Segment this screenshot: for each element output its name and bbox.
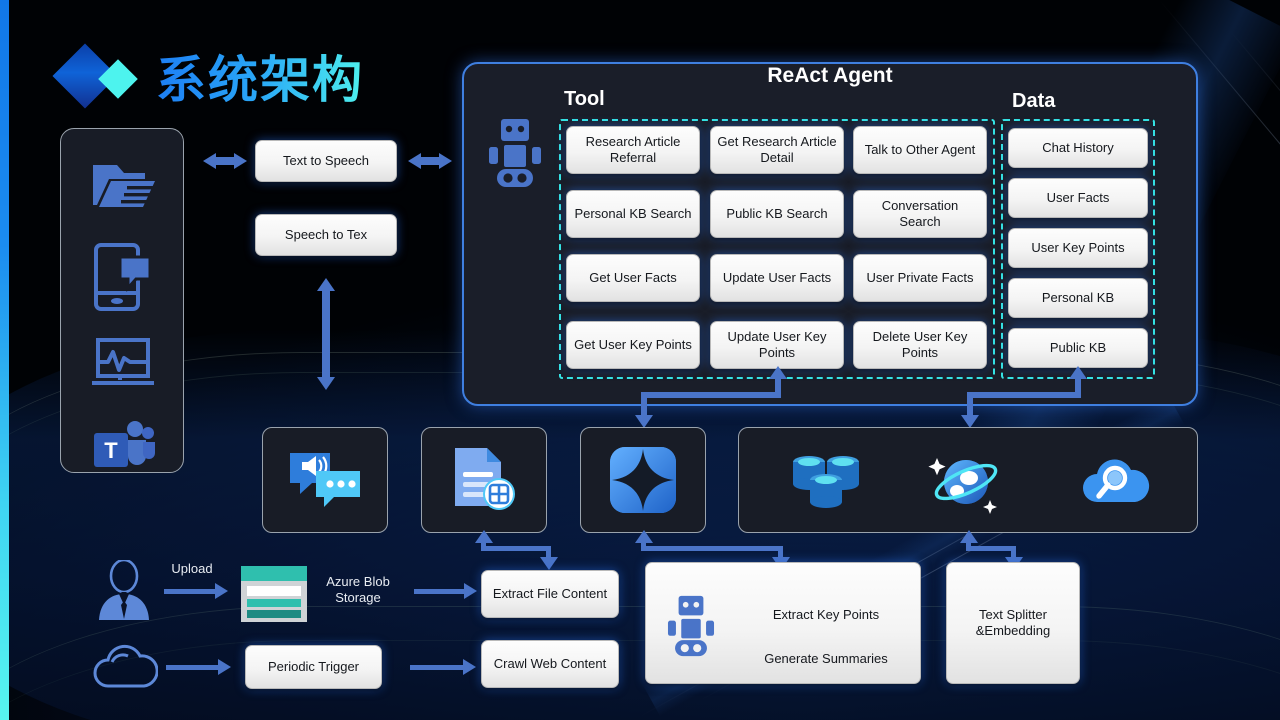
tool-button[interactable]: Public KB Search (710, 190, 844, 238)
azure-blob-storage-icon (241, 566, 307, 627)
speech-service-icon (288, 449, 362, 511)
database-stack-icon (787, 452, 863, 517)
extract-file-content-button[interactable]: Extract File Content (481, 570, 619, 618)
laptop-monitor-icon (90, 336, 156, 392)
data-button[interactable]: Public KB (1008, 328, 1148, 368)
user-person-icon (95, 560, 153, 627)
robot-icon (664, 595, 718, 661)
periodic-trigger-button[interactable]: Periodic Trigger (245, 645, 382, 689)
data-button[interactable]: User Key Points (1008, 228, 1148, 268)
tool-button[interactable]: Conversation Search (853, 190, 987, 238)
teams-icon: T (90, 419, 156, 477)
sidebar-item-folder[interactable] (61, 151, 185, 223)
sidebar-item-mobile-chat[interactable] (61, 237, 185, 317)
data-button[interactable]: Personal KB (1008, 278, 1148, 318)
cloud-icon (90, 640, 158, 697)
sidebar-item-monitoring[interactable] (61, 329, 185, 399)
data-button[interactable]: User Facts (1008, 178, 1148, 218)
tool-button[interactable]: Research Article Referral (566, 126, 700, 174)
tool-button[interactable]: Personal KB Search (566, 190, 700, 238)
document-intelligence-icon (449, 446, 519, 514)
ai-star-icon (608, 445, 678, 515)
extract-key-points-box[interactable]: Extract Key Points Generate Summaries (645, 562, 921, 684)
speech-service-box[interactable] (262, 427, 388, 533)
text-to-speech-button[interactable]: Text to Speech (255, 140, 397, 182)
svg-text:T: T (104, 438, 118, 463)
tool-button[interactable]: Talk to Other Agent (853, 126, 987, 174)
diamond-logo-icon (60, 45, 138, 107)
tool-button[interactable]: Get User Key Points (566, 321, 700, 369)
text-splitter-embedding-box[interactable]: Text Splitter &Embedding (946, 562, 1080, 684)
tool-button[interactable]: Delete User Key Points (853, 321, 987, 369)
robot-icon (486, 118, 544, 188)
tool-column-label: Tool (564, 88, 605, 111)
data-column-label: Data (1012, 90, 1055, 113)
tool-button[interactable]: User Private Facts (853, 254, 987, 302)
ai-search-cloud-icon (1077, 454, 1153, 513)
tool-button[interactable]: Update User Facts (710, 254, 844, 302)
sidebar-item-teams[interactable]: T (61, 413, 185, 483)
upload-label: Upload (150, 561, 234, 577)
crawl-web-content-button[interactable]: Crawl Web Content (481, 640, 619, 688)
channels-sidebar: T (60, 128, 184, 473)
ai-service-box[interactable] (580, 427, 706, 533)
title-text: 系统架构 (156, 40, 364, 112)
architecture-diagram: 系统架构 (0, 0, 1280, 720)
agent-robot-icon (486, 118, 544, 193)
cosmos-db-icon (924, 448, 1006, 519)
folder-icon (91, 161, 155, 213)
left-edge-stripe (0, 0, 9, 720)
tool-button[interactable]: Get User Facts (566, 254, 700, 302)
page-title: 系统架构 (60, 40, 364, 112)
speech-to-text-button[interactable]: Speech to Tex (255, 214, 397, 256)
tool-button[interactable]: Update User Key Points (710, 321, 844, 369)
data-button[interactable]: Chat History (1008, 128, 1148, 168)
document-intelligence-box[interactable] (421, 427, 547, 533)
mobile-chat-icon (92, 241, 154, 313)
tool-button[interactable]: Get Research Article Detail (710, 126, 844, 174)
data-services-box[interactable] (738, 427, 1198, 533)
generate-summaries-label: Generate Summaries (741, 651, 911, 667)
blob-storage-label: Azure Blob Storage (310, 574, 406, 607)
react-agent-title: ReAct Agent (462, 64, 1198, 88)
extract-key-points-label: Extract Key Points (741, 607, 911, 623)
